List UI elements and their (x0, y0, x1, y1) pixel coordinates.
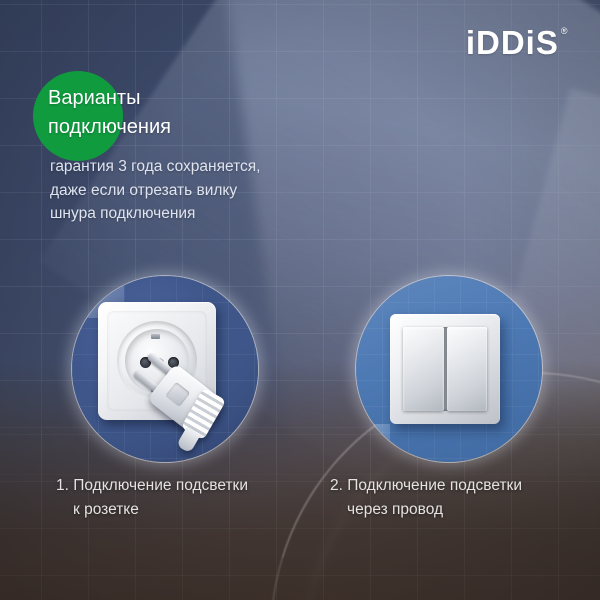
switch-face (403, 327, 487, 411)
option-1-image (72, 276, 258, 462)
page-title-line-2: подключения (48, 113, 378, 142)
intro-paragraph: гарантия 3 года сохраняется, даже если о… (50, 155, 380, 226)
option-1-caption-line-1: 1. Подключение подсветки (56, 474, 306, 498)
page-title-line-1: Варианты (48, 84, 378, 113)
promo-banner: iDDiS ® Варианты подключения гарантия 3 … (0, 0, 600, 600)
option-2-caption-line-1: 2. Подключение подсветки (330, 474, 580, 498)
switch-frame (390, 314, 500, 424)
plug-grip-notch (165, 382, 190, 407)
switch-rocker-left (403, 327, 444, 411)
option-1-caption: 1. Подключение подсветки к розетке (56, 474, 306, 522)
registered-trademark-icon: ® (561, 27, 568, 36)
brand-logo: iDDiS ® (466, 26, 568, 59)
page-title: Варианты подключения (48, 84, 378, 142)
intro-line-2: даже если отрезать вилку (50, 179, 380, 203)
brand-logo-text: iDDiS (466, 26, 559, 59)
option-1-caption-line-2: к розетке (56, 498, 306, 522)
intro-line-1: гарантия 3 года сохраняется, (50, 155, 380, 179)
light-switch-icon (390, 314, 500, 424)
switch-rocker-right (447, 327, 488, 411)
option-2-wall-highlight (356, 424, 390, 462)
wall-socket-icon (98, 302, 232, 436)
option-2-caption: 2. Подключение подсветки через провод (330, 474, 580, 522)
socket-earth-clip-top (151, 334, 160, 339)
option-2-image (356, 276, 542, 462)
option-2-caption-line-2: через провод (330, 498, 580, 522)
intro-line-3: шнура подключения (50, 202, 380, 226)
